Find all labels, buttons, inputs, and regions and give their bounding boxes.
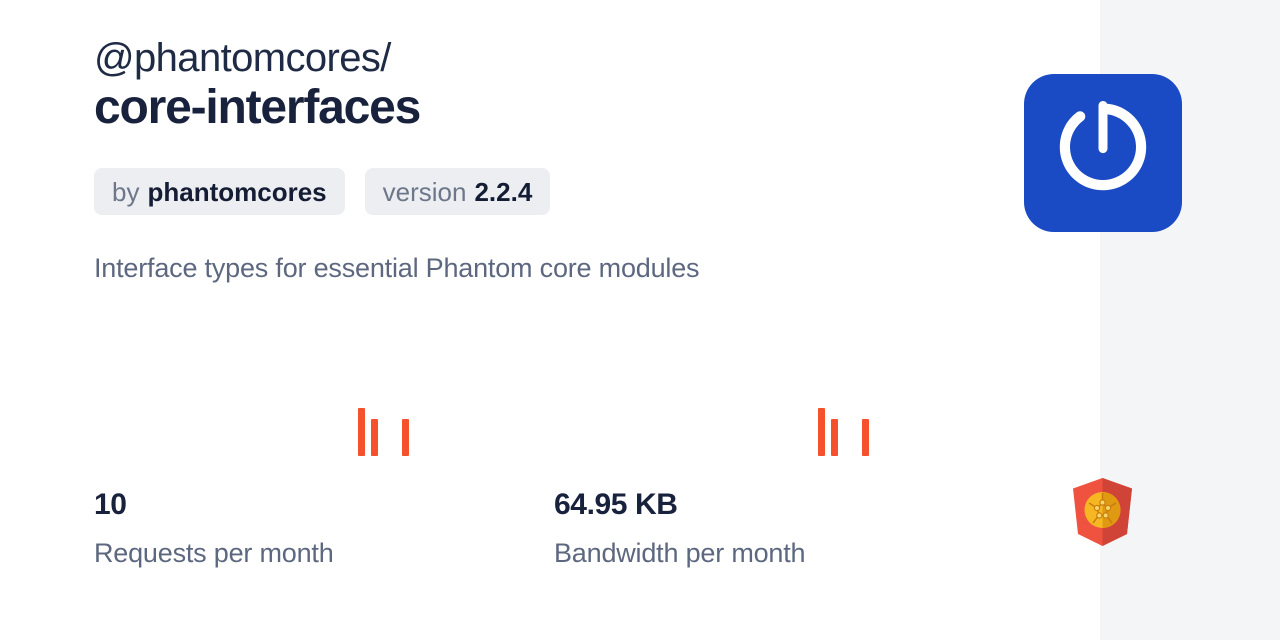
- author-badge[interactable]: by phantomcores: [94, 168, 345, 215]
- stat-bandwidth: 64.95 KB Bandwidth per month: [554, 400, 1014, 580]
- author-badge-value: phantomcores: [147, 179, 326, 205]
- bandwidth-value: 64.95 KB: [554, 488, 678, 522]
- sparkline-bar: [358, 408, 365, 456]
- requests-sparkline: [358, 400, 478, 460]
- sparkline-bar: [371, 419, 378, 456]
- sparkline-bar: [402, 419, 409, 456]
- page-title: core-interfaces: [94, 80, 420, 135]
- requests-value: 10: [94, 488, 127, 522]
- bandwidth-sparkline: [818, 400, 938, 460]
- jsdelivr-logo-icon: [1024, 74, 1182, 232]
- stat-requests: 10 Requests per month: [94, 400, 554, 580]
- package-description: Interface types for essential Phantom co…: [94, 251, 699, 286]
- version-badge-label: version: [383, 179, 467, 205]
- version-badge[interactable]: version 2.2.4: [365, 168, 551, 215]
- package-card: @phantomcores/ core-interfaces by phanto…: [0, 0, 1280, 640]
- sparkline-bar: [818, 408, 825, 456]
- package-scope: @phantomcores/: [94, 36, 391, 80]
- requests-label: Requests per month: [94, 538, 334, 569]
- bandwidth-label: Bandwidth per month: [554, 538, 805, 569]
- sparkline-bar: [831, 419, 838, 456]
- sparkline-bar: [862, 419, 869, 456]
- badge-row: by phantomcores version 2.2.4: [94, 168, 550, 215]
- version-badge-value: 2.2.4: [474, 179, 532, 205]
- stats-row: 10 Requests per month 64.95 KB Bandwidth…: [94, 400, 1014, 580]
- bower-shield-icon: [1071, 477, 1134, 547]
- author-badge-label: by: [112, 179, 139, 205]
